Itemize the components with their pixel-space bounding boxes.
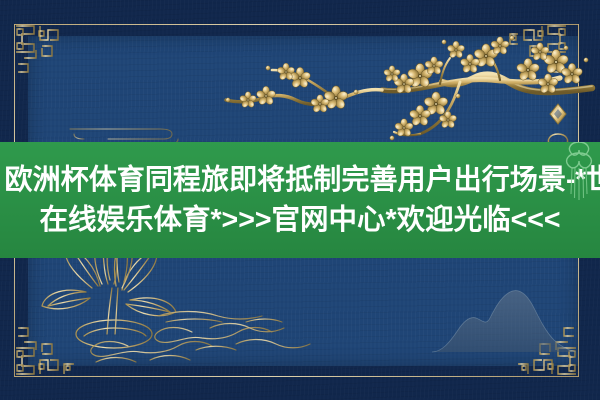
banner-text-line-1: 欧洲杯体育同程旅即将抵制完善用户出行场景-*世博 bbox=[5, 160, 596, 200]
promotional-text-banner: 欧洲杯体育同程旅即将抵制完善用户出行场景-*世博 在线娱乐体育*>>>官网中心*… bbox=[0, 142, 600, 258]
gold-rule-top bbox=[14, 24, 579, 25]
banner-text-line-2: 在线娱乐体育*>>>官网中心*欢迎光临<<< bbox=[0, 200, 600, 240]
gold-rule-bottom bbox=[14, 376, 579, 377]
decorative-image-canvas: 欧洲杯体育同程旅即将抵制完善用户出行场景-*世博 在线娱乐体育*>>>官网中心*… bbox=[0, 0, 600, 400]
